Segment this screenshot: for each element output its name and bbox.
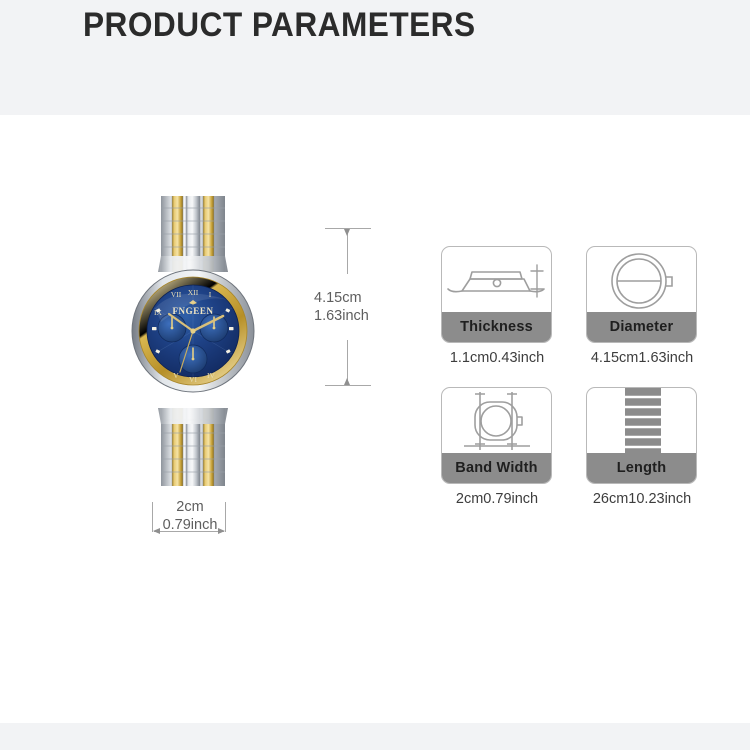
case-height-metric: 4.15cm — [314, 289, 369, 307]
spec-card-frame: Band Width — [441, 387, 552, 484]
bracelet-strip-icon — [587, 388, 696, 456]
page-title: PRODUCT PARAMETERS — [83, 6, 476, 45]
spec-card-length[interactable]: Length 26cm10.23inch — [586, 387, 699, 507]
watch-product-image: FNGEEN VII XII I IX VI V IV — [128, 196, 258, 486]
dimension-cap-bottom — [325, 385, 371, 386]
svg-text:IV: IV — [207, 371, 215, 380]
product-parameters-page: PRODUCT PARAMETERS — [0, 0, 750, 750]
footer-band — [0, 723, 750, 750]
spec-card-frame: Thickness — [441, 246, 552, 343]
dimension-arrow-right — [218, 528, 225, 534]
spec-card-frame: Diameter — [586, 246, 697, 343]
spec-card-diameter[interactable]: Diameter 4.15cm1.63inch — [586, 246, 699, 366]
dimension-rail — [154, 531, 224, 532]
spec-card-caption: 2cm0.79inch — [438, 491, 556, 507]
spec-card-label: Diameter — [610, 319, 674, 335]
watch-case-lugs-icon — [442, 388, 551, 456]
spec-card-label: Thickness — [460, 319, 533, 335]
spec-card-label-bar: Diameter — [587, 312, 696, 342]
dimension-stem-top — [347, 230, 348, 274]
spec-card-caption: 1.1cm0.43inch — [438, 350, 556, 366]
spec-card-label: Length — [617, 460, 667, 476]
spec-card-caption: 4.15cm1.63inch — [583, 350, 701, 366]
spec-card-label-bar: Band Width — [442, 453, 551, 483]
svg-text:VI: VI — [189, 375, 197, 384]
dimension-arrow-left — [153, 528, 160, 534]
spec-card-band-width[interactable]: Band Width 2cm0.79inch — [441, 387, 554, 507]
spec-card-label-bar: Thickness — [442, 312, 551, 342]
band-width-metric: 2cm — [150, 498, 230, 516]
spec-card-label-bar: Length — [587, 453, 696, 483]
spec-card-thickness[interactable]: Thickness 1.1cm0.43inch — [441, 246, 554, 366]
watch-side-profile-icon — [442, 247, 551, 315]
spec-card-frame: Length — [586, 387, 697, 484]
spec-card-caption: 26cm10.23inch — [583, 491, 701, 507]
watch-face-circle-icon — [587, 247, 696, 315]
dimension-cap-right — [225, 502, 226, 532]
spec-card-label: Band Width — [455, 460, 537, 476]
dimension-arrow-top — [344, 229, 350, 236]
case-height-label: 4.15cm 1.63inch — [314, 289, 369, 325]
svg-text:V: V — [173, 371, 179, 380]
dimension-arrow-bottom — [344, 378, 350, 385]
band-width-dimension-line — [152, 528, 226, 546]
case-height-imperial: 1.63inch — [314, 307, 369, 325]
